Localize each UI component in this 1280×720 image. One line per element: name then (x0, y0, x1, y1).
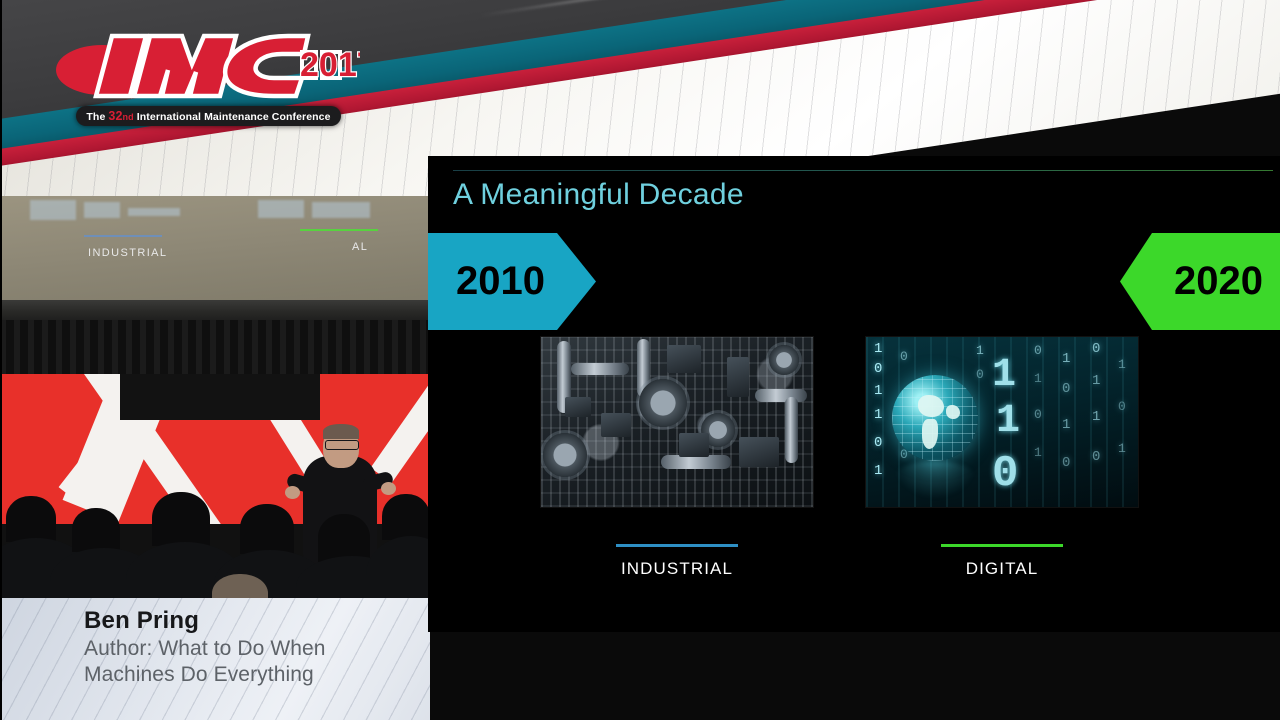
speaker-video-feed: INDUSTRIAL AL (0, 196, 428, 606)
speaker-name: Ben Pring (84, 607, 199, 635)
stage-projection-screen: INDUSTRIAL AL (0, 196, 428, 308)
imc-logo-tagline: The 32nd International Maintenance Confe… (76, 106, 341, 126)
caption-bar-industrial (616, 544, 738, 547)
caption-industrial: INDUSTRIAL (540, 544, 814, 579)
tagline-text: The 32nd International Maintenance Confe… (86, 109, 330, 123)
projection-label-industrial: INDUSTRIAL (88, 247, 167, 259)
stage-curtain (0, 320, 428, 380)
caption-label-industrial: INDUSTRIAL (540, 559, 814, 579)
industrial-image (540, 336, 814, 508)
caption-bar-digital (941, 544, 1063, 547)
broadcast-frame: 2017 The 32nd International Maintenance … (0, 0, 1280, 720)
slide-image-row: 1 0 1 1 0 1 0 1 0 1 0 1 1 0 0 1 0 1 1 0 (428, 156, 1280, 632)
projection-rule-digital (300, 229, 378, 231)
imc-logo: 2017 The 32nd International Maintenance … (50, 18, 360, 118)
lower-third-panel: Ben Pring Author: What to Do WhenMachine… (0, 598, 430, 720)
stage-edge-bar (0, 300, 428, 322)
presentation-slide: A Meaningful Decade 2010 2020 (428, 156, 1280, 632)
digital-image: 1 0 1 1 0 1 0 1 0 1 0 1 1 0 0 1 0 1 1 0 (865, 336, 1139, 508)
speaker-role: Author: What to Do WhenMachines Do Every… (84, 636, 326, 688)
caption-digital: DIGITAL (865, 544, 1139, 579)
globe-icon (892, 375, 978, 461)
left-edge-strip (0, 0, 2, 720)
globe-reflection (892, 461, 978, 499)
caption-label-digital: DIGITAL (865, 559, 1139, 579)
audience-silhouettes (0, 486, 428, 606)
projection-label-digital: AL (352, 241, 368, 253)
svg-text:2017: 2017 (300, 46, 360, 84)
imc-logo-mark: 2017 (50, 18, 360, 110)
projection-rule-industrial (84, 235, 162, 237)
